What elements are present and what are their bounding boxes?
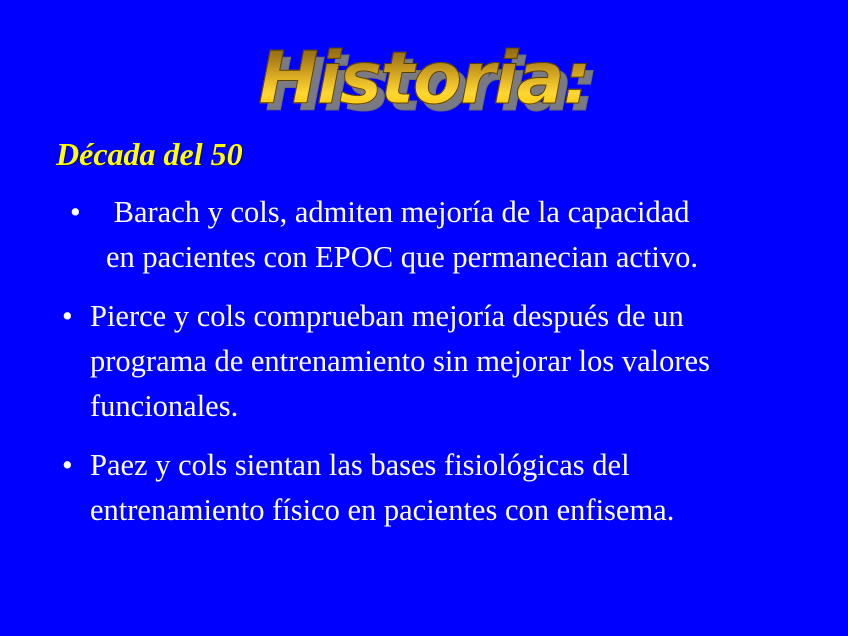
- bullet-list: • Barach y cols, admiten mejoría de la c…: [62, 190, 832, 547]
- slide-title: Historia: Historia:: [0, 42, 848, 138]
- bullet-marker-icon: •: [70, 190, 106, 235]
- wordart-title-face: Historia:: [258, 36, 589, 120]
- list-item: • Paez y cols sientan las bases fisiológ…: [62, 443, 832, 533]
- presentation-slide: Historia: Historia: Década del 50 • Bara…: [0, 0, 848, 636]
- bullet-text: Pierce y cols comprueban mejoría después…: [90, 294, 762, 429]
- bullet-text: Barach y cols, admiten mejoría de la cap…: [106, 190, 706, 280]
- slide-subtitle: Década del 50: [56, 136, 243, 173]
- bullet-marker-icon: •: [62, 443, 90, 488]
- list-item: • Pierce y cols comprueban mejoría despu…: [62, 294, 832, 429]
- bullet-marker-icon: •: [62, 294, 90, 339]
- list-item: • Barach y cols, admiten mejoría de la c…: [62, 190, 832, 280]
- bullet-text: Paez y cols sientan las bases fisiológic…: [90, 443, 790, 533]
- wordart-title: Historia: Historia:: [258, 42, 589, 114]
